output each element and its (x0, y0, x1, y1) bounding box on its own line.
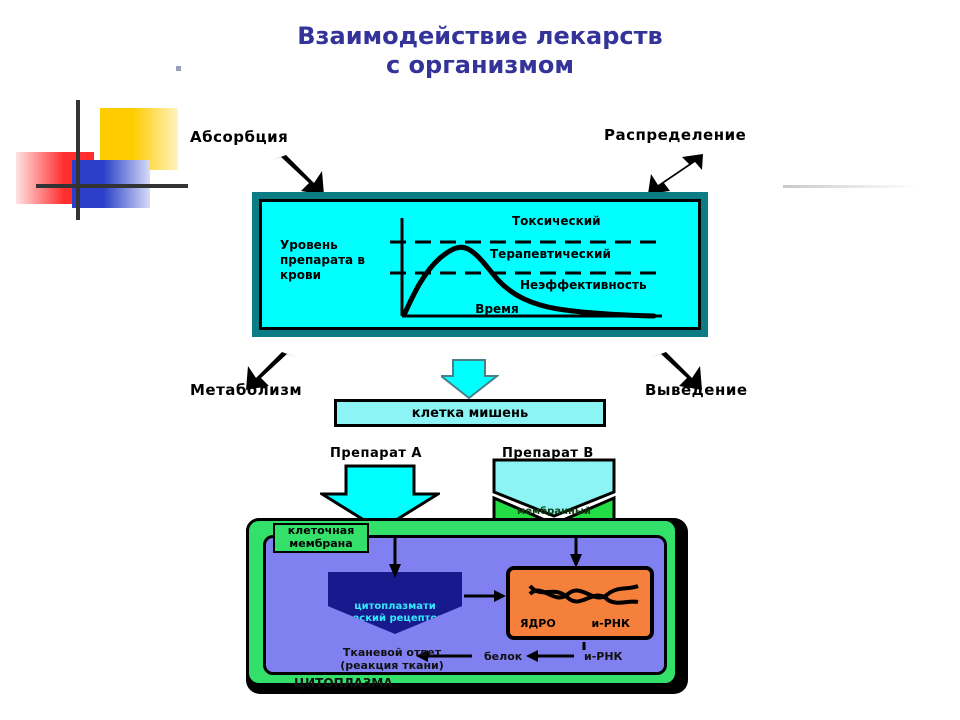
decorative-motif (14, 100, 194, 220)
cell-membrane-label: клеточная мембрана (273, 523, 369, 553)
cytoplasm-layer: цитоплазмати ческий рецептор ЯДРО и-РНК (263, 535, 667, 675)
target-cell-box: клетка мишень (334, 399, 606, 427)
mrna-bottom-label: и-РНК (584, 650, 623, 663)
protein-label: белок (484, 650, 522, 663)
excretion-arrow-icon (648, 352, 704, 392)
decorative-dot-icon (176, 66, 181, 71)
page-title: Взаимодействие лекарств с организмом (180, 22, 780, 81)
blood-level-chart-panel: Уровень препарата в крови Время Токсичес… (252, 192, 708, 337)
target-cell-diagram: цитоплазмати ческий рецептор ЯДРО и-РНК (246, 518, 688, 694)
chart-plot-area: Уровень препарата в крови Время Токсичес… (259, 199, 701, 330)
label-absorption: Абсорбция (190, 128, 288, 146)
title-line-1: Взаимодействие лекарств (180, 22, 780, 51)
horizontal-rule-icon (36, 184, 188, 188)
target-cell-label: клетка мишень (412, 406, 528, 421)
title-line-2: с организмом (180, 51, 780, 80)
vertical-rule-icon (76, 100, 80, 220)
cell-membrane-layer: цитоплазмати ческий рецептор ЯДРО и-РНК (246, 518, 678, 686)
cytoplasm-label: ЦИТОПЛАЗМА (294, 676, 393, 690)
right-gradient-rule (783, 185, 918, 188)
tissue-response-label: Тканевой ответ (реакция ткани) (332, 646, 452, 672)
label-drug-a: Препарат А (330, 446, 422, 461)
chart-curve-svg (262, 202, 712, 341)
absorption-arrow-icon (268, 155, 328, 197)
distribution-double-arrow-icon (646, 152, 706, 196)
label-distribution: Распределение (604, 126, 746, 144)
metabolism-arrow-icon (244, 352, 300, 392)
chart-to-cell-arrow-icon (441, 358, 499, 400)
